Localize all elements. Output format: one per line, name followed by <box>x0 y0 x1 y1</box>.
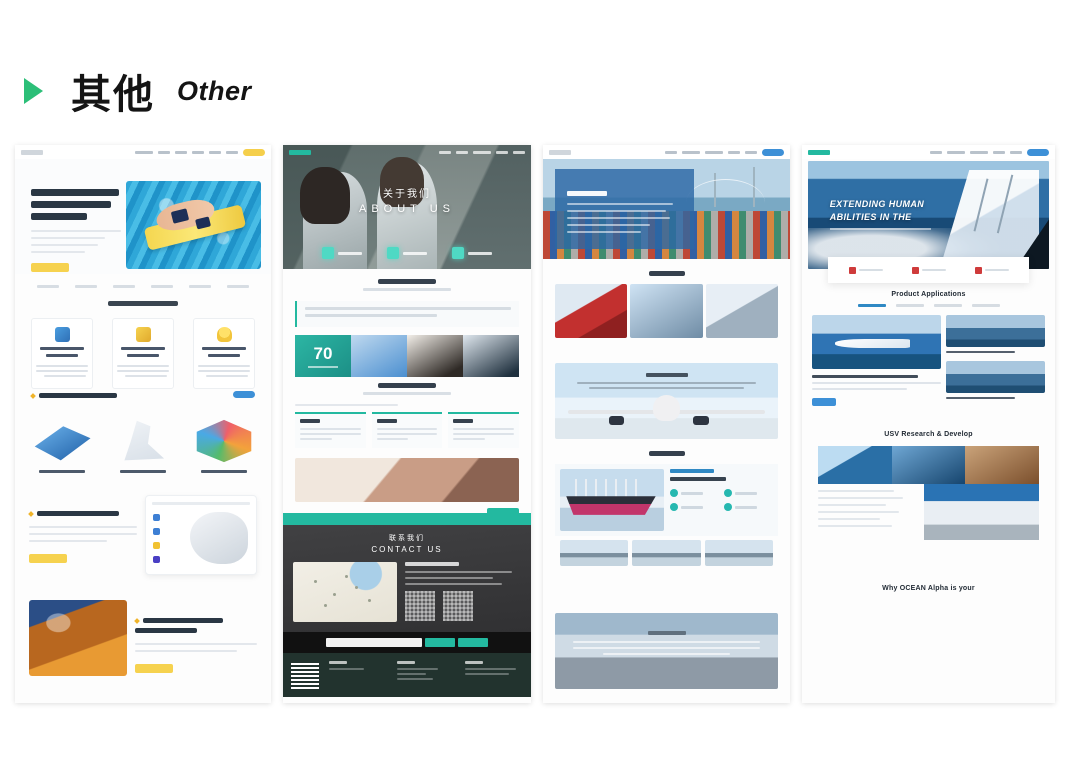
rd-image-row <box>818 446 1039 484</box>
logo-icon <box>21 150 43 155</box>
qr-code-icon <box>405 591 435 621</box>
panel1-navbar[interactable] <box>15 145 271 159</box>
contact-title-cn: 联系我们 <box>293 533 521 543</box>
tab[interactable] <box>934 304 962 307</box>
hero-title-en: ABOUT US <box>283 203 531 215</box>
application-image <box>946 315 1045 347</box>
bullet-icon <box>670 489 678 497</box>
nav-link[interactable] <box>226 151 238 154</box>
thumbnail[interactable] <box>632 540 700 566</box>
land-image <box>630 284 702 338</box>
lightbulb-icon <box>217 327 232 342</box>
bullet-icon <box>724 489 732 497</box>
section-heading <box>29 511 137 516</box>
intro-quote <box>295 301 519 327</box>
advantage-card[interactable] <box>448 412 519 448</box>
contact-map[interactable] <box>293 562 397 622</box>
email-input[interactable] <box>326 638 422 647</box>
nav-cta-button[interactable] <box>1027 149 1049 156</box>
green-divider <box>283 513 531 525</box>
hero-headline: EXTENDING HUMAN ABILITIES IN THE <box>830 198 960 224</box>
panel-logistics[interactable] <box>543 145 790 703</box>
panel2-advantages-section <box>283 383 531 516</box>
manufacturing-image <box>29 600 127 676</box>
feature-card[interactable] <box>193 318 255 389</box>
subscribe-button[interactable] <box>425 638 455 647</box>
land-image <box>555 284 627 338</box>
nav-link[interactable] <box>705 151 723 154</box>
nav-link[interactable] <box>1010 151 1022 154</box>
section-title: Why OCEAN Alpha is your <box>802 585 1055 592</box>
section-title <box>108 301 178 306</box>
nav-link[interactable] <box>993 151 1005 154</box>
advantages-bar <box>295 404 519 406</box>
page-title-en: Other <box>177 76 252 107</box>
hero-pool-image <box>126 181 261 269</box>
panel3-hero <box>543 159 790 259</box>
play-triangle-icon <box>24 78 43 104</box>
product-image <box>193 418 255 464</box>
panel2-hero: 关于我们 ABOUT US <box>283 145 531 269</box>
qr-code-icon <box>443 591 473 621</box>
panel4-nav-links[interactable] <box>930 149 1049 156</box>
sea-thumbnails[interactable] <box>560 540 773 566</box>
panel-inflatables[interactable] <box>15 145 271 703</box>
hero-quicklinks[interactable] <box>828 257 1029 283</box>
section-title: Product Applications <box>802 291 1055 298</box>
panel3-navbar[interactable] <box>543 145 790 159</box>
footer-column[interactable] <box>465 661 523 689</box>
product-card[interactable] <box>31 418 93 473</box>
panel1-logo-strip <box>15 285 271 288</box>
panel4-navbar[interactable] <box>802 145 1055 159</box>
panel1-why-choose-section <box>15 301 271 389</box>
nav-link[interactable] <box>456 151 468 154</box>
application-image <box>812 315 941 369</box>
rd-text <box>818 484 924 540</box>
strip-image <box>351 335 407 377</box>
application-tabs[interactable] <box>802 304 1055 307</box>
section-heading <box>135 618 257 623</box>
rd-image <box>965 446 1039 484</box>
contact-title: 联系我们 CONTACT US <box>293 533 521 554</box>
cargo-ship-image <box>560 469 664 531</box>
nav-link[interactable] <box>135 151 153 154</box>
bullet-icon <box>724 503 732 511</box>
applications-cta[interactable] <box>812 398 836 406</box>
logo-icon <box>289 150 311 155</box>
nav-link[interactable] <box>930 151 942 154</box>
rd-image <box>892 446 966 484</box>
tab[interactable] <box>972 304 1000 307</box>
feature-icon <box>322 247 334 259</box>
footer-qr-icon <box>291 661 319 689</box>
quicklink-icon <box>849 267 856 274</box>
application-card[interactable] <box>946 361 1045 399</box>
nav-link[interactable] <box>728 151 740 154</box>
feature-card[interactable] <box>112 318 174 389</box>
custom-options-cta[interactable] <box>29 554 67 563</box>
panel1-hero-cta[interactable] <box>31 263 69 272</box>
tab[interactable] <box>896 304 924 307</box>
panel2-intro-section: 70 <box>283 279 531 377</box>
panel1-products-section <box>15 393 271 473</box>
air-freight-banner <box>555 363 778 439</box>
quicklink-icon <box>912 267 919 274</box>
nav-link[interactable] <box>513 151 525 154</box>
application-image <box>946 361 1045 393</box>
panel4-rd-section: USV Research & Develop <box>802 431 1055 540</box>
application-card[interactable] <box>946 315 1045 353</box>
contact-info <box>405 562 521 622</box>
stat-number: 70 <box>314 345 333 362</box>
section-title: USV Research & Develop <box>802 431 1055 438</box>
quicklink[interactable] <box>975 267 1009 274</box>
nav-link[interactable] <box>209 151 221 154</box>
panel3-sea-section <box>543 451 790 566</box>
feature-icon <box>452 247 464 259</box>
logo-icon <box>808 150 830 155</box>
nav-link[interactable] <box>496 151 508 154</box>
nav-link[interactable] <box>682 151 700 154</box>
advantage-card[interactable] <box>372 412 443 448</box>
hero-overlay-card <box>555 169 693 249</box>
customise-icon <box>136 327 151 342</box>
panel1-nav-links[interactable] <box>135 149 265 156</box>
footer-column[interactable] <box>329 661 387 689</box>
land-image <box>706 284 778 338</box>
service-caption <box>555 631 778 659</box>
section-title <box>543 271 790 276</box>
nav-cta-button[interactable] <box>762 149 784 156</box>
panel4-applications-section: Product Applications <box>802 291 1055 406</box>
section-title <box>283 383 531 395</box>
advantages-photo <box>295 458 519 502</box>
nav-link[interactable] <box>665 151 677 154</box>
nav-link[interactable] <box>745 151 757 154</box>
panel3-service-section <box>543 603 790 689</box>
airplane-image <box>653 395 680 421</box>
product-card[interactable] <box>193 418 255 473</box>
panel2-navbar[interactable] <box>283 145 531 159</box>
products-cta-button[interactable] <box>233 391 255 398</box>
newsletter-subscribe[interactable] <box>283 632 531 653</box>
panel2-contact-section: 联系我们 CONTACT US <box>283 513 531 697</box>
nav-cta-button[interactable] <box>243 149 265 156</box>
panel1-hero <box>15 159 271 274</box>
panel1-hero-headline <box>31 189 121 272</box>
hero-title-cn: 关于我们 <box>283 185 531 200</box>
panel2-footer <box>283 653 531 697</box>
rd-image <box>818 446 892 484</box>
nav-link[interactable] <box>473 151 491 154</box>
product-image <box>31 418 93 464</box>
subscribe-secondary-button[interactable] <box>458 638 488 647</box>
nav-link[interactable] <box>970 151 988 154</box>
manufacturing-cta[interactable] <box>135 664 173 673</box>
panel3-air-section <box>543 363 790 439</box>
inflatable-preview-image <box>190 512 248 564</box>
panel4-why-section: Why OCEAN Alpha is your <box>802 585 1055 688</box>
service-banner <box>555 613 778 689</box>
nav-link[interactable] <box>192 151 204 154</box>
strip-image <box>407 335 463 377</box>
quicklink[interactable] <box>849 267 883 274</box>
product-card[interactable] <box>112 418 174 473</box>
panel1-manufacturing-section <box>15 600 271 676</box>
panel-about-us[interactable]: 关于我们 ABOUT US 70 <box>283 145 531 703</box>
stat-tile-70: 70 <box>295 335 351 377</box>
section-title <box>543 451 790 456</box>
nav-link[interactable] <box>439 151 451 154</box>
rd-photo <box>924 484 1039 540</box>
advantage-card[interactable] <box>295 412 366 448</box>
panel4-hero: EXTENDING HUMAN ABILITIES IN THE <box>808 161 1049 269</box>
stats-image-strip: 70 <box>295 335 519 377</box>
product-image <box>112 418 174 464</box>
bullet-icon <box>670 503 678 511</box>
page-title-cn: 其他 <box>71 62 155 120</box>
sea-freight-info <box>670 469 773 531</box>
section-title <box>283 279 531 291</box>
nav-link[interactable] <box>158 151 170 154</box>
nav-link[interactable] <box>947 151 965 154</box>
application-card-main[interactable] <box>812 315 941 406</box>
advantage-cards[interactable] <box>295 412 519 448</box>
page-title-header: 其他 Other <box>0 62 252 120</box>
thumbnail[interactable] <box>560 540 628 566</box>
customise-preview-card[interactable] <box>145 495 257 575</box>
sea-feature-bullets[interactable] <box>670 489 773 511</box>
feature-card[interactable] <box>31 318 93 389</box>
thumbnail[interactable] <box>705 540 773 566</box>
feature-icon <box>387 247 399 259</box>
panel-usv[interactable]: EXTENDING HUMAN ABILITIES IN THE Product… <box>802 145 1055 703</box>
panel3-nav-links[interactable] <box>665 149 784 156</box>
variety-icon <box>55 327 70 342</box>
contact-title-en: CONTACT US <box>293 545 521 554</box>
screenshot-gallery: 关于我们 ABOUT US 70 <box>15 145 1065 703</box>
air-caption <box>555 373 778 392</box>
logo-icon <box>549 150 571 155</box>
panel2-nav-links[interactable] <box>439 151 525 154</box>
quicklink[interactable] <box>912 267 946 274</box>
color-swatches[interactable] <box>153 514 160 563</box>
footer-column[interactable] <box>397 661 455 689</box>
nav-link[interactable] <box>175 151 187 154</box>
land-freight-images[interactable] <box>555 284 778 338</box>
panel1-custom-options-section <box>15 495 271 575</box>
strip-image <box>463 335 519 377</box>
tab[interactable] <box>858 304 886 307</box>
panel3-land-section <box>543 271 790 338</box>
panel2-hero-title: 关于我们 ABOUT US <box>283 185 531 215</box>
quicklink-icon <box>975 267 982 274</box>
panel2-hero-feature-icons[interactable] <box>283 247 531 259</box>
